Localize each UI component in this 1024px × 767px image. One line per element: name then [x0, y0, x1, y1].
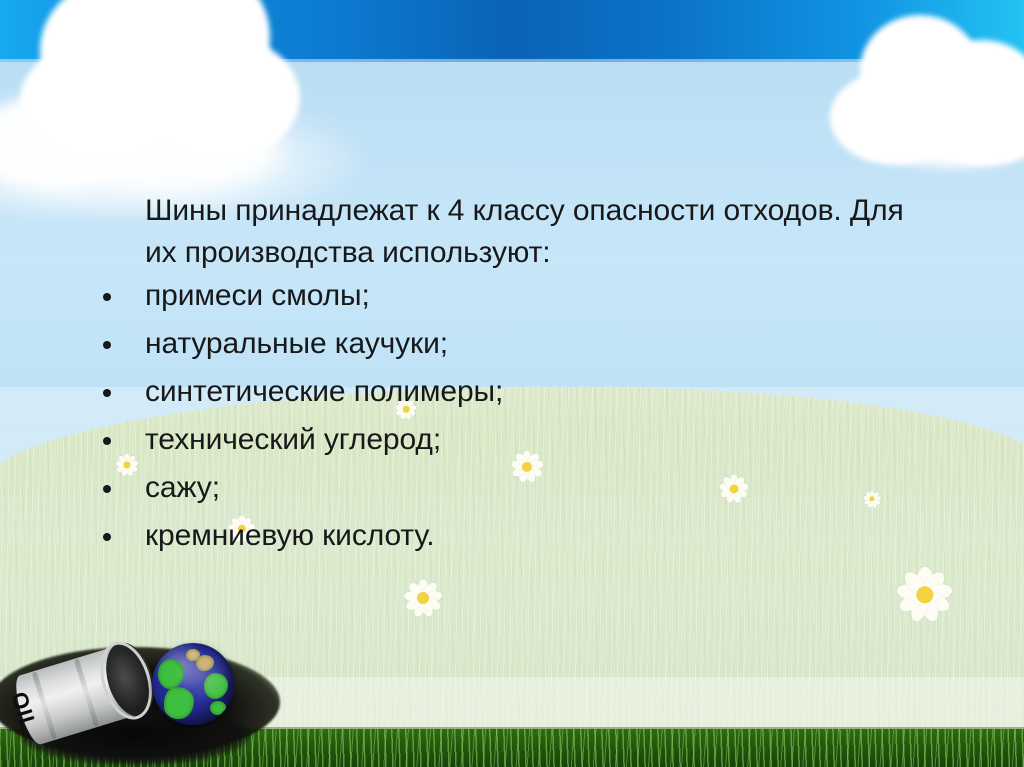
bullet-item: технический углерод;: [100, 420, 920, 468]
slide-canvas: OIL Шины принадлежат к 4 классу опасност…: [0, 0, 1024, 767]
slide-heading: Шины принадлежат к 4 классу опасности от…: [145, 190, 905, 274]
bullet-item: примеси смолы;: [100, 276, 920, 324]
bullet-label: технический углерод;: [145, 423, 441, 456]
bullet-dot-icon: [103, 533, 111, 541]
bullet-item: натуральные каучуки;: [100, 324, 920, 372]
bullet-dot-icon: [103, 293, 111, 301]
bullet-dot-icon: [103, 341, 111, 349]
bullet-item: синтетические полимеры;: [100, 372, 920, 420]
bullet-dot-icon: [103, 389, 111, 397]
bullet-item: сажу;: [100, 468, 920, 516]
bullet-dot-icon: [103, 485, 111, 493]
bullet-label: натуральные каучуки;: [145, 327, 448, 360]
bullet-item: кремниевую кислоту.: [100, 516, 920, 564]
bullet-label: синтетические полимеры;: [145, 375, 503, 408]
bullet-label: сажу;: [145, 471, 220, 504]
bullet-list: примеси смолы;натуральные каучуки;синтет…: [100, 276, 920, 564]
slide-content: Шины принадлежат к 4 классу опасности от…: [0, 0, 1024, 767]
bullet-label: примеси смолы;: [145, 279, 370, 312]
bullet-label: кремниевую кислоту.: [145, 519, 435, 552]
bullet-dot-icon: [103, 437, 111, 445]
